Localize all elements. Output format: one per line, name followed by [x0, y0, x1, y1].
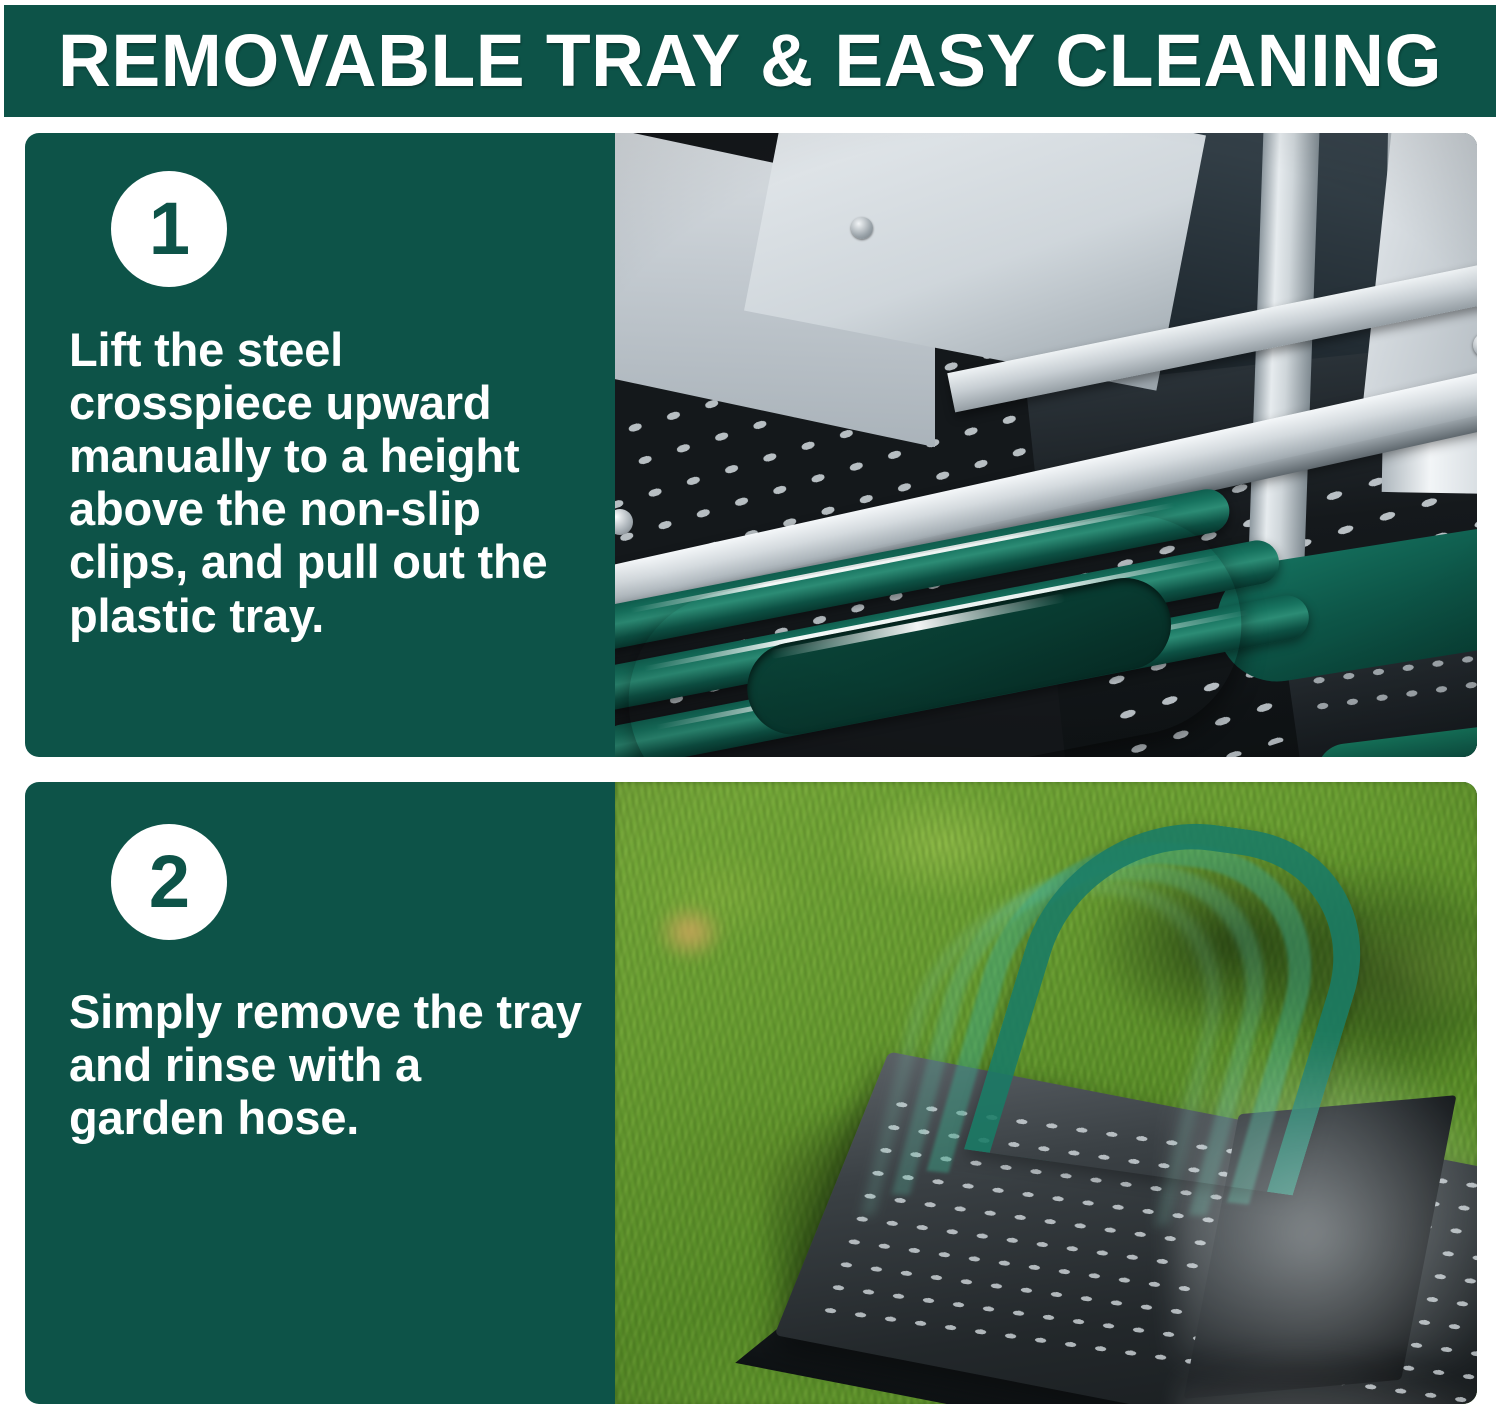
step-number-badge-2: 2 [111, 824, 227, 940]
step-number-badge-1: 1 [111, 171, 227, 287]
photo1-vignette [615, 133, 1477, 757]
step-panel-1: 1 Lift the steel crosspiece upward manua… [25, 133, 1477, 757]
step-1-photo [615, 133, 1477, 757]
step-2-instruction: Simply remove the tray and rinse with a … [69, 985, 589, 1144]
step-2-photo [615, 782, 1477, 1404]
page-title: REMOVABLE TRAY & EASY CLEANING [58, 24, 1442, 98]
photo2-vignette [615, 782, 1477, 1404]
step-1-instruction: Lift the steel crosspiece upward manuall… [69, 323, 589, 642]
step-1-text-column: 1 Lift the steel crosspiece upward manua… [25, 133, 615, 757]
step-2-text-column: 2 Simply remove the tray and rinse with … [25, 782, 615, 1404]
header-banner: REMOVABLE TRAY & EASY CLEANING [4, 5, 1496, 117]
step-panel-2: 2 Simply remove the tray and rinse with … [25, 782, 1477, 1404]
product-feature-infographic: REMOVABLE TRAY & EASY CLEANING 1 Lift th… [0, 0, 1500, 1411]
